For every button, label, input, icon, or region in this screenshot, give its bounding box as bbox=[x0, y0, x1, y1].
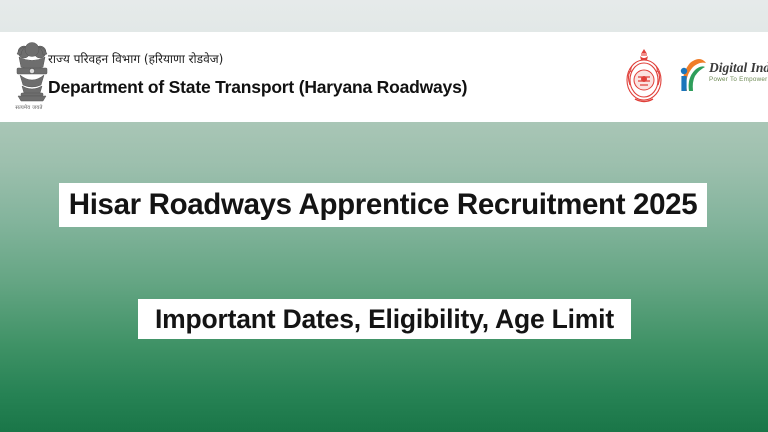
subtitle-band: Important Dates, Eligibility, Age Limit bbox=[138, 299, 631, 339]
digital-india-tagline: Power To Empower bbox=[709, 77, 768, 83]
page-title: Hisar Roadways Apprentice Recruitment 20… bbox=[69, 188, 698, 222]
haryana-state-emblem-icon bbox=[620, 47, 668, 109]
digital-india-logo-icon: Digital India Power To Empower bbox=[678, 57, 762, 97]
page-subtitle: Important Dates, Eligibility, Age Limit bbox=[155, 304, 614, 335]
green-gradient-background bbox=[0, 122, 768, 432]
top-background-strip bbox=[0, 0, 768, 32]
recruitment-banner: सत्यमेव जयते राज्य परिवहन विभाग (हरियाणा… bbox=[0, 0, 768, 432]
digital-india-title: Digital India bbox=[709, 61, 768, 75]
main-title-band: Hisar Roadways Apprentice Recruitment 20… bbox=[59, 183, 707, 227]
emblem-motto: सत्यमेव जयते bbox=[6, 103, 52, 111]
department-name-english: Department of State Transport (Haryana R… bbox=[48, 77, 467, 98]
department-name-hindi: राज्य परिवहन विभाग (हरियाणा रोडवेज) bbox=[48, 50, 223, 67]
